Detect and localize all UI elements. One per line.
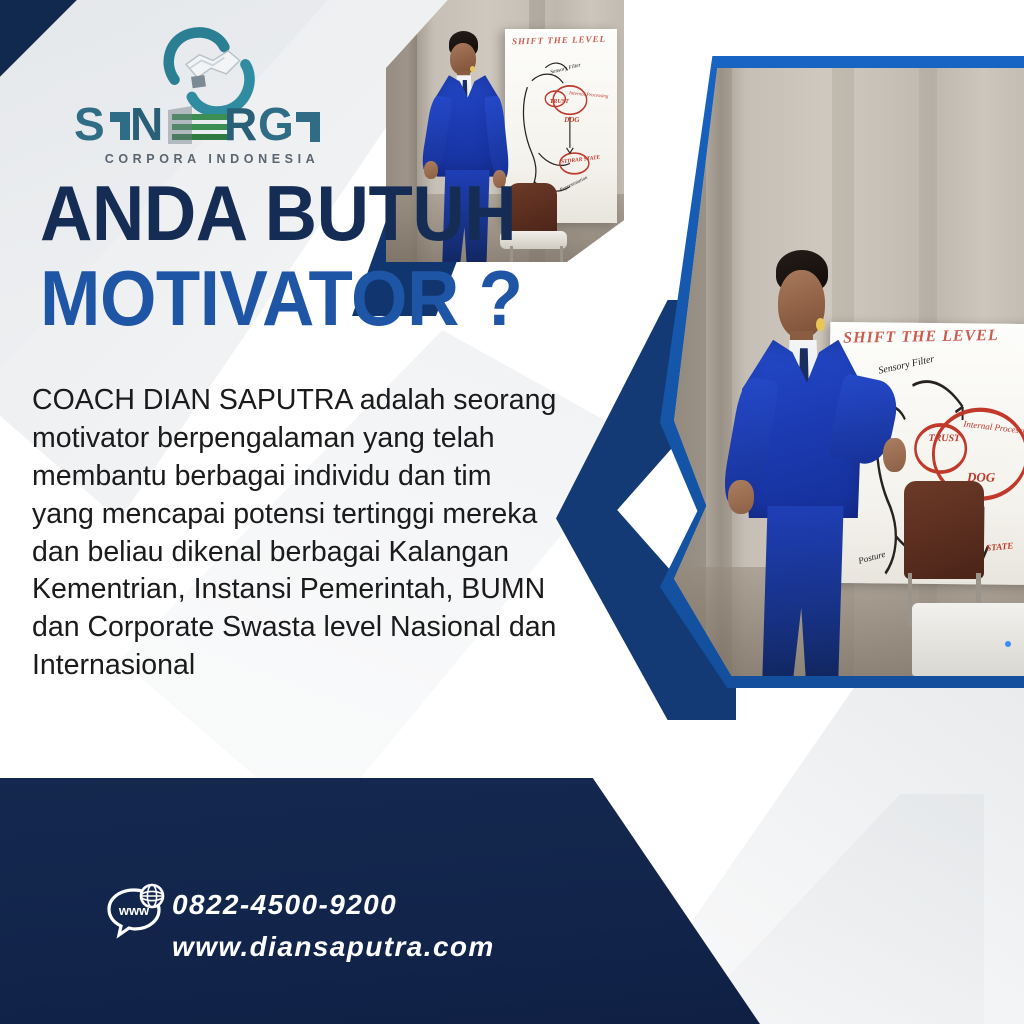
contact-phone[interactable]: 0822-4500-9200 [172,884,592,926]
photo-chair-leg [560,246,563,262]
person-hand-right [883,438,905,472]
person-hand-left [728,480,754,514]
body-paragraph: COACH DIAN SAPUTRA adalah seorang motiva… [32,382,560,685]
photo-ac-unit [912,603,1024,676]
svg-text:N: N [130,100,163,150]
contact-website[interactable]: www.diansaputra.com [172,926,592,968]
photo-chair-back [904,481,983,578]
svg-text:S: S [74,100,104,150]
person-microphone [470,66,475,72]
headline-line-1: ANDA BUTUH [40,176,505,251]
contact-details: 0822-4500-9200 www.diansaputra.com [172,884,592,968]
svg-text:G: G [258,100,294,150]
logo-tagline: CORPORA INDONESIA [72,152,352,166]
www-speech-bubble-globe-icon: www [104,882,166,940]
headline-line-2: MOTIVATOR ? [40,261,505,336]
photo-person [724,250,897,676]
flipchart-note-trust: TRUST [928,433,960,444]
flipchart-note-trust: TRUST [550,99,569,105]
brand-logo[interactable]: S N R G CORPORA INDONESIA [72,26,352,166]
person-microphone [816,318,826,331]
flipchart-note-dog: DOG [564,116,579,124]
svg-text:R: R [224,100,257,150]
person-trousers [762,506,848,676]
logo-wordmark: S N R G [72,100,352,150]
poster-canvas: SHIFT THE LEVEL Sensory Filte [0,0,1024,1024]
speaker-pointing-flipchart-photo: SHIFT THE LEVEL Sensory Filter T [674,68,1024,676]
photo-ac-led [1005,641,1011,647]
headline: ANDA BUTUH MOTIVATOR ? [40,176,540,336]
